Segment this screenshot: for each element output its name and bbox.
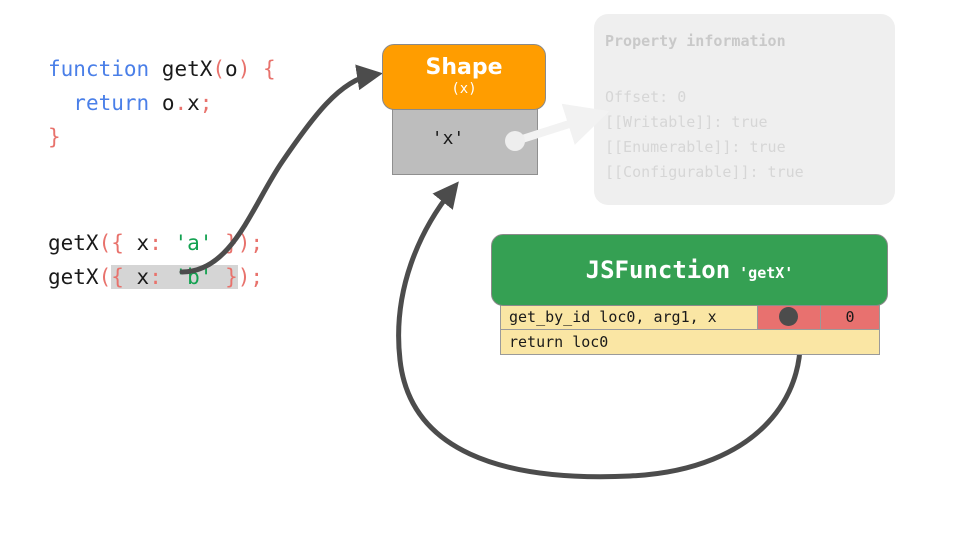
property-attribute-line: [[Configurable]]: true (605, 160, 804, 185)
code-function-definition: function getX(o) { return o.x;} (48, 52, 276, 154)
bytecode-instruction: return loc0 (501, 330, 879, 354)
code-token: o (162, 91, 175, 115)
code-token: : (149, 231, 162, 255)
code-token: getX (162, 57, 213, 81)
code-token: ; (250, 265, 263, 289)
code-call-sites: getX({ x: 'a' });getX({ x: 'b' }); (48, 226, 263, 294)
property-attribute-line: Offset: 0 (605, 85, 804, 110)
code-token: ; (250, 231, 263, 255)
code-token (250, 57, 263, 81)
bytecode-row: get_by_id loc0, arg1, x0 (501, 304, 879, 329)
code-token: : (149, 265, 162, 289)
code-token: { (111, 231, 124, 255)
code-token: } (48, 125, 61, 149)
inline-cache-pointer-dot (779, 307, 798, 326)
property-panel-title: Property information (605, 32, 786, 50)
code-token: ( (99, 231, 112, 255)
property-attribute-line: [[Writable]]: true (605, 110, 804, 135)
shape-node-header: Shape (x) (382, 44, 546, 110)
shape-node-title: Shape (425, 56, 502, 80)
code-token: x (187, 91, 200, 115)
code-function-line: } (48, 120, 276, 154)
code-token: x (124, 265, 149, 289)
code-token: x (124, 231, 149, 255)
property-information-panel: Property information Offset: 0[[Writable… (594, 14, 895, 205)
code-token: 'a' (175, 231, 213, 255)
property-attribute-line: [[Enumerable]]: true (605, 135, 804, 160)
code-token: } (225, 265, 238, 289)
code-token: . (174, 91, 187, 115)
code-token: ( (212, 57, 225, 81)
jsfunction-title: JSFunction (586, 256, 731, 284)
property-panel-attributes: Offset: 0[[Writable]]: true[[Enumerable]… (605, 85, 804, 185)
code-token: function (48, 57, 162, 81)
code-function-line: return o.x; (48, 86, 276, 120)
code-token: { (111, 265, 124, 289)
code-token (212, 231, 225, 255)
code-token: { (263, 57, 276, 81)
code-token (212, 265, 225, 289)
jsfunction-node-header: JSFunction 'getX' (491, 234, 888, 306)
code-token: } (225, 231, 238, 255)
code-function-line: function getX(o) { (48, 52, 276, 86)
bytecode-instruction: get_by_id loc0, arg1, x (501, 304, 757, 329)
jsfunction-name: 'getX' (739, 264, 793, 282)
shape-node-subtitle: (x) (451, 80, 476, 98)
code-token: o (225, 57, 238, 81)
code-call-line: getX({ x: 'b' }); (48, 260, 263, 294)
code-token: ) (238, 265, 251, 289)
code-token: ) (238, 57, 251, 81)
inline-cache-offset: 0 (820, 304, 879, 329)
code-token: ( (99, 265, 112, 289)
code-call-line: getX({ x: 'a' }); (48, 226, 263, 260)
shape-property-name: 'x' (392, 128, 504, 149)
code-token: ) (238, 231, 251, 255)
inline-cache-slot[interactable] (757, 304, 820, 329)
code-token: getX (48, 265, 99, 289)
code-token: ; (200, 91, 213, 115)
diagram-canvas: Property information Offset: 0[[Writable… (0, 0, 960, 540)
code-token (162, 265, 175, 289)
bytecode-table: get_by_id loc0, arg1, x0return loc0 (500, 304, 880, 355)
code-token (162, 231, 175, 255)
shape-property-connector-dot (505, 131, 525, 151)
bytecode-row: return loc0 (501, 329, 879, 354)
code-token: 'b' (175, 265, 213, 289)
code-token: return (73, 91, 162, 115)
code-token: getX (48, 231, 99, 255)
code-token (48, 91, 73, 115)
